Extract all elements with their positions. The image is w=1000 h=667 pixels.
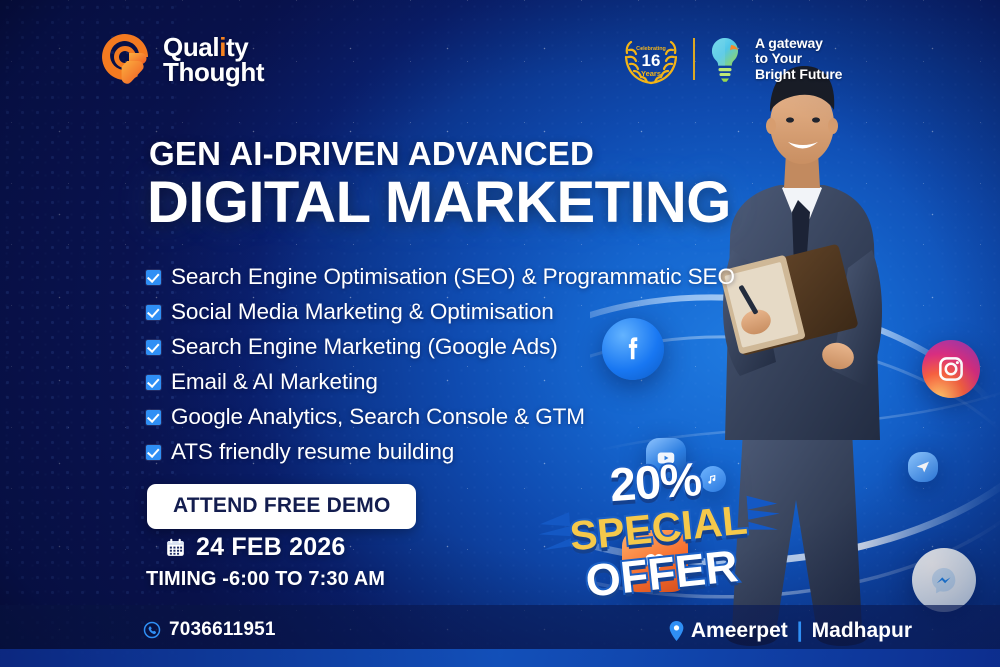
checkbox-checked-icon (146, 305, 161, 320)
headline-kicker: GEN AI-DRIVEN ADVANCED (149, 135, 594, 173)
phone-icon (143, 621, 161, 639)
brand-logo[interactable]: Quality Thought (98, 31, 264, 89)
checkbox-checked-icon (146, 445, 161, 460)
location-separator: | (797, 619, 803, 643)
list-item: Search Engine Marketing (Google Ads) (146, 334, 735, 360)
list-item: Social Media Marketing & Optimisation (146, 299, 735, 325)
phone-number: 7036611951 (169, 619, 276, 641)
list-item-label: ATS friendly resume building (171, 439, 454, 465)
send-arrow-icon (908, 452, 938, 482)
event-date: 24 FEB 2026 (165, 533, 346, 562)
brand-logo-text: Quality Thought (163, 35, 264, 85)
svg-text:16: 16 (642, 51, 661, 70)
list-item-label: Email & AI Marketing (171, 369, 378, 395)
list-item-label: Search Engine Optimisation (SEO) & Progr… (171, 264, 735, 290)
location-secondary: Madhapur (812, 619, 912, 643)
footer-base-strip (0, 649, 1000, 667)
list-item: Email & AI Marketing (146, 369, 735, 395)
checkbox-checked-icon (146, 270, 161, 285)
location-primary: Ameerpet (691, 619, 788, 643)
list-item: Search Engine Optimisation (SEO) & Progr… (146, 264, 735, 290)
list-item-label: Google Analytics, Search Console & GTM (171, 404, 585, 430)
list-item-label: Social Media Marketing & Optimisation (171, 299, 554, 325)
anniversary-badge: Celebrating 16 Years (620, 31, 842, 87)
anniversary-tagline: A gateway to Your Bright Future (755, 36, 842, 83)
calendar-icon (165, 537, 186, 558)
messenger-icon (912, 548, 976, 612)
promo-poster: Quality Thought Celebrating 16 Years (0, 0, 1000, 667)
feature-list: Search Engine Optimisation (SEO) & Progr… (146, 264, 735, 465)
event-timing: TIMING -6:00 TO 7:30 AM (146, 568, 385, 591)
list-item-label: Search Engine Marketing (Google Ads) (171, 334, 558, 360)
quality-thought-q-logo (98, 31, 154, 89)
checkbox-checked-icon (146, 375, 161, 390)
page-title: DIGITAL MARKETING (147, 172, 731, 234)
laurel-wreath-icon: Celebrating 16 Years (620, 31, 682, 87)
checkbox-checked-icon (146, 410, 161, 425)
checkbox-checked-icon (146, 340, 161, 355)
instagram-icon (922, 340, 980, 398)
svg-text:Years: Years (641, 69, 661, 78)
lightbulb-icon (706, 35, 744, 83)
contact-phone[interactable]: 7036611951 (143, 619, 276, 641)
badge-divider (693, 38, 695, 80)
event-date-label: 24 FEB 2026 (196, 533, 346, 562)
locations: Ameerpet | Madhapur (669, 619, 912, 643)
attend-free-demo-button[interactable]: ATTEND FREE DEMO (147, 484, 416, 529)
map-pin-icon (669, 621, 684, 641)
special-offer-badge: 20% SPECIAL OFFER (554, 451, 762, 590)
list-item: Google Analytics, Search Console & GTM (146, 404, 735, 430)
